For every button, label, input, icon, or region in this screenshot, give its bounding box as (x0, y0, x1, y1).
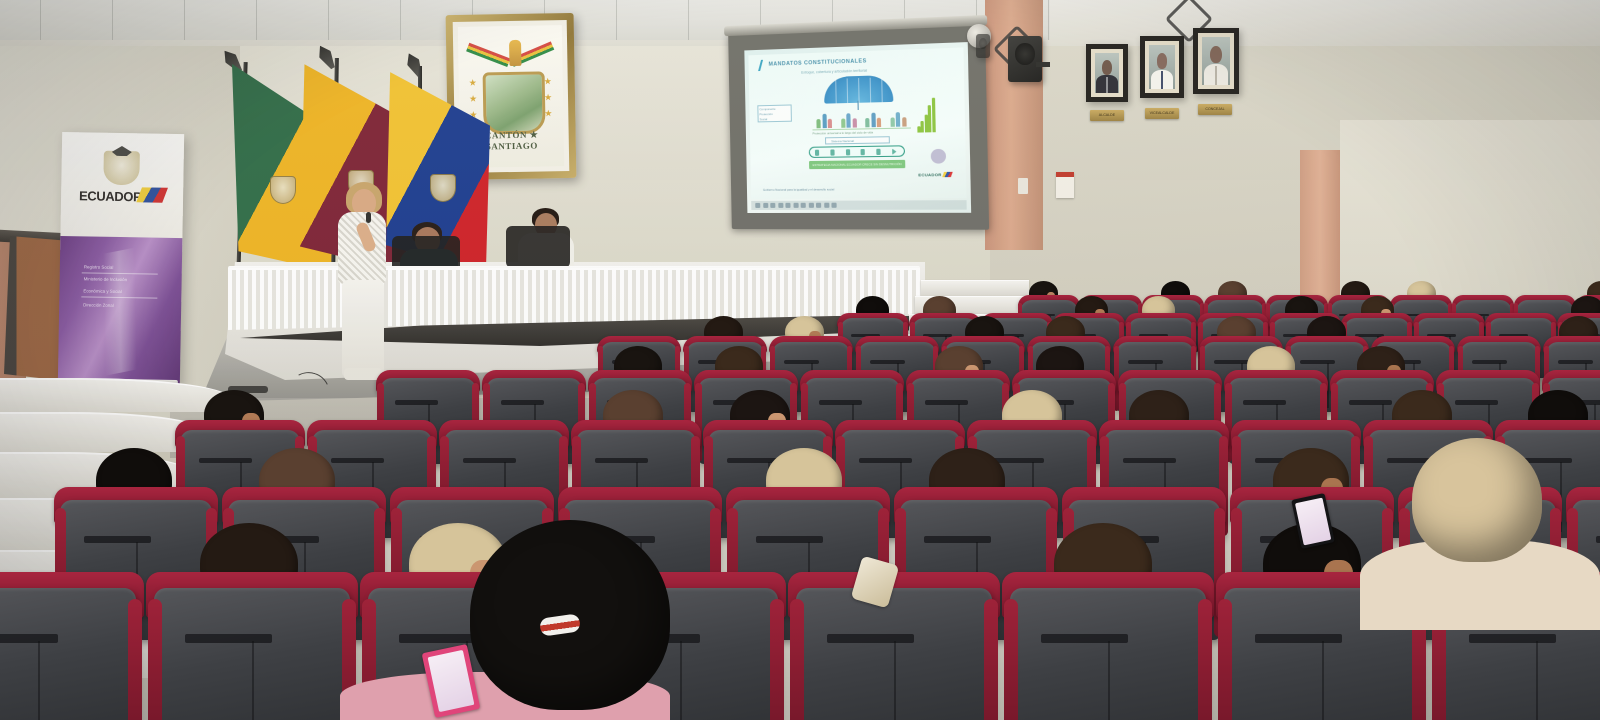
auditorium-seat[interactable] (0, 588, 136, 720)
projection-screen: MANDATOS CONSTITUCIONALES Enfoque, cober… (728, 22, 989, 229)
attendee-phone-right-head (1412, 438, 1542, 562)
seat-back (154, 588, 350, 720)
auditorium-photo: MANDATOS CONSTITUCIONALES Enfoque, cober… (0, 0, 1600, 720)
phone-screen[interactable] (1295, 497, 1331, 545)
seat-back-slot (463, 458, 516, 463)
panel-chair-right (506, 226, 570, 268)
app-icon[interactable] (831, 203, 836, 208)
seat-back-seam (680, 641, 682, 720)
nameplate-center: VICEALCALDE (1145, 108, 1179, 119)
microphone-icon (366, 212, 371, 223)
coa-torch-icon (509, 40, 521, 66)
ceiling-tile-line (688, 0, 689, 40)
speaker-trousers (342, 280, 384, 376)
seat-back-slot (501, 400, 543, 404)
folder-icon[interactable] (770, 203, 775, 208)
slide-left-box-line3: Social (760, 117, 768, 121)
seat-back (1010, 588, 1206, 720)
umbrella-icon (824, 75, 894, 108)
mail-icon[interactable] (785, 203, 790, 208)
chat-icon[interactable] (793, 203, 798, 208)
slide-mid-box-label: Sistema Nacional (831, 139, 854, 143)
seat-back-seam (252, 641, 254, 720)
people-figure-icon (871, 113, 875, 128)
slide-mini-chart (917, 97, 937, 133)
coa-star-1: ★ (469, 79, 478, 88)
seat-armrest-left (790, 599, 804, 720)
seat-back-slot (870, 360, 904, 364)
seat-armrest-right (984, 599, 998, 720)
screen-canvas: MANDATOS CONSTITUCIONALES Enfoque, cober… (744, 42, 971, 213)
auditorium-seat[interactable] (796, 588, 992, 720)
slide-process-pill (809, 145, 905, 158)
seat-armrest-right (1198, 599, 1212, 720)
seat-back-slot (756, 536, 823, 543)
speaker-bracket-right (1036, 62, 1050, 67)
seat-back-slot (924, 536, 991, 543)
ceiling-tile-line (40, 0, 41, 40)
portrait-center (1140, 36, 1184, 98)
wall-speaker-left (976, 34, 990, 58)
seat-armrest-left (1218, 599, 1232, 720)
slide-subtitle: Enfoque, cobertura y articulación territ… (801, 69, 867, 75)
auditorium-seat[interactable] (1010, 588, 1206, 720)
seat-back-slot (1596, 536, 1600, 543)
ceiling-tile-line (1048, 0, 1049, 40)
people-figure-icon (852, 118, 856, 127)
ceiling-tile-line (256, 0, 257, 40)
ceiling-tile-line (112, 0, 113, 40)
nameplate-right: CONCEJAL (1198, 104, 1232, 115)
slide-left-box-line2: Protección (759, 112, 772, 116)
seat-back-slot (1123, 458, 1176, 463)
seat-back-slot (859, 458, 912, 463)
people-figure-icon (822, 114, 826, 128)
banner-upper-panel: ECUADOR (60, 132, 184, 252)
seat-back-slot (199, 458, 252, 463)
wall-speaker-right (1008, 36, 1042, 82)
desktop-taskbar[interactable] (751, 200, 967, 210)
seat-back-slot (1214, 360, 1248, 364)
wall-switch-box (1018, 178, 1028, 194)
seat-armrest-left (1004, 599, 1018, 720)
seat-back-seam (38, 641, 40, 720)
flag-canton-shield (270, 176, 296, 204)
seat-back-seam (1536, 641, 1538, 720)
start-icon[interactable] (755, 203, 760, 208)
people-figure-icon (896, 112, 901, 127)
seat-back-slot (1041, 634, 1127, 643)
slide-left-box-line1: Componente (759, 107, 775, 111)
ceiling-tile-line (184, 0, 185, 40)
speaker-standing-woman (330, 182, 400, 382)
people-figure-icon (816, 119, 820, 128)
portrait-right (1193, 28, 1239, 94)
slide-seal-badge (931, 149, 946, 164)
seat-back-slot (827, 634, 913, 643)
banner-logo-text: ECUADOR (79, 188, 142, 204)
seat-back-seam (1108, 641, 1110, 720)
seat-back-slot (1128, 360, 1162, 364)
seat-back-slot (1469, 634, 1555, 643)
phone-screen[interactable] (427, 649, 475, 712)
coa-shield (483, 71, 546, 134)
seat-back-seam (894, 641, 896, 720)
seat-armrest-right (128, 599, 142, 720)
slide-figures-caption: Protección universal a lo largo del cicl… (813, 130, 873, 135)
seat-armrest-left (148, 599, 162, 720)
seat-back-slot (1300, 360, 1334, 364)
slide-footer-note: Gobierno Nacional para la igualdad y el … (763, 187, 834, 191)
seat-back-slot (1558, 360, 1592, 364)
emergency-sign-icon (1056, 172, 1074, 198)
nameplate-left-text: ALCALDE (1090, 110, 1124, 121)
nameplate-right-text: CONCEJAL (1198, 104, 1232, 115)
slide-logo-text: ECUADOR (918, 172, 941, 177)
banner-coat-of-arms-icon (103, 151, 140, 186)
coa-star-2: ★ (469, 95, 478, 104)
search-icon[interactable] (763, 203, 768, 208)
people-figure-icon (902, 117, 906, 126)
seat-back-slot (1472, 360, 1506, 364)
seat-back-slot (185, 634, 271, 643)
slide-green-banner-label: ESTRATEGIA NACIONAL ECUADOR CRECE SIN DE… (809, 160, 905, 169)
office-icon[interactable] (808, 203, 813, 208)
browser-icon[interactable] (778, 203, 783, 208)
slide-accent-bar (758, 60, 763, 71)
coa-star-5: ★ (544, 93, 553, 102)
seat-back-slot (1243, 400, 1285, 404)
coa-star-6: ★ (544, 109, 553, 118)
seat-back-slot (784, 360, 818, 364)
nameplate-center-text: VICEALCALDE (1145, 108, 1179, 119)
ceiling-tile-line (616, 0, 617, 40)
seat-back-slot (395, 400, 437, 404)
banner-flag-stripe-icon (136, 187, 168, 202)
seat-armrest-right (770, 599, 784, 720)
people-figure-icon (828, 119, 832, 128)
seat-back (796, 588, 992, 720)
seat-back-slot (925, 400, 967, 404)
seat-back (0, 588, 136, 720)
people-figure-icon (865, 118, 869, 127)
people-figure-icon (846, 113, 850, 127)
seat-back-slot (1349, 400, 1391, 404)
seat-back-slot (0, 634, 58, 643)
ceiling-tile-line (328, 0, 329, 40)
seat-back-slot (84, 536, 151, 543)
pdf-icon[interactable] (824, 203, 829, 208)
seat-back-slot (1255, 634, 1341, 643)
people-figure-group (863, 109, 883, 127)
people-figure-icon (877, 118, 881, 127)
arrow-right-icon (892, 148, 898, 154)
people-figure-group (814, 111, 834, 129)
coa-star-4: ★ (544, 77, 553, 86)
seat-back-seam (1322, 641, 1324, 720)
slide-logo: ECUADOR (918, 172, 951, 178)
ceiling-tile-line (400, 0, 401, 40)
slide-chart-bar (931, 98, 935, 133)
people-figure-group (839, 110, 859, 128)
auditorium-seat[interactable] (154, 588, 350, 720)
coa-ribbon-left (466, 43, 510, 67)
media-icon[interactable] (801, 203, 806, 208)
seat-back-slot (1455, 400, 1497, 404)
seat-back-slot (331, 458, 384, 463)
slide-title: MANDATOS CONSTITUCIONALES (769, 58, 867, 67)
people-figure-icon (841, 119, 845, 128)
seat-back-slot (819, 400, 861, 404)
people-figures-row (814, 108, 909, 129)
settings-icon[interactable] (816, 203, 821, 208)
flag-ecuador-shield (430, 174, 456, 202)
people-figure-group (888, 109, 909, 127)
seat-back-slot (595, 458, 648, 463)
presentation-slide: MANDATOS CONSTITUCIONALES Enfoque, cober… (748, 47, 966, 198)
rollup-banner: ECUADOR Registro Social Ministerio de In… (58, 132, 184, 386)
people-figure-icon (890, 117, 894, 126)
nameplate-left: ALCALDE (1090, 110, 1124, 121)
portrait-left (1086, 44, 1128, 102)
slide-green-banner: ESTRATEGIA NACIONAL ECUADOR CRECE SIN DE… (809, 160, 905, 169)
